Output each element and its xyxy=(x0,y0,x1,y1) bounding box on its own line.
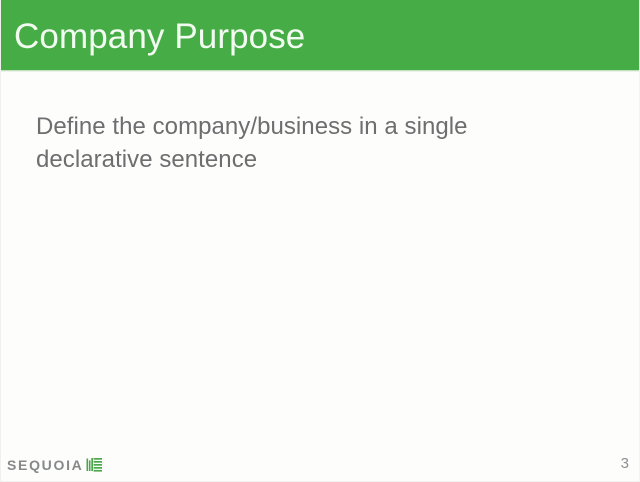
sequoia-tree-icon xyxy=(86,457,103,473)
slide: Company Purpose Define the company/busin… xyxy=(0,0,640,482)
page-number: 3 xyxy=(621,455,629,473)
slide-body: Define the company/business in a single … xyxy=(1,72,640,430)
brand-lockup: SEQUOIA xyxy=(7,457,103,473)
sequoia-wordmark: SEQUOIA xyxy=(7,457,83,473)
slide-footer: SEQUOIA 3 xyxy=(1,439,640,481)
slide-body-text: Define the company/business in a single … xyxy=(36,110,576,176)
slide-title: Company Purpose xyxy=(14,16,305,58)
